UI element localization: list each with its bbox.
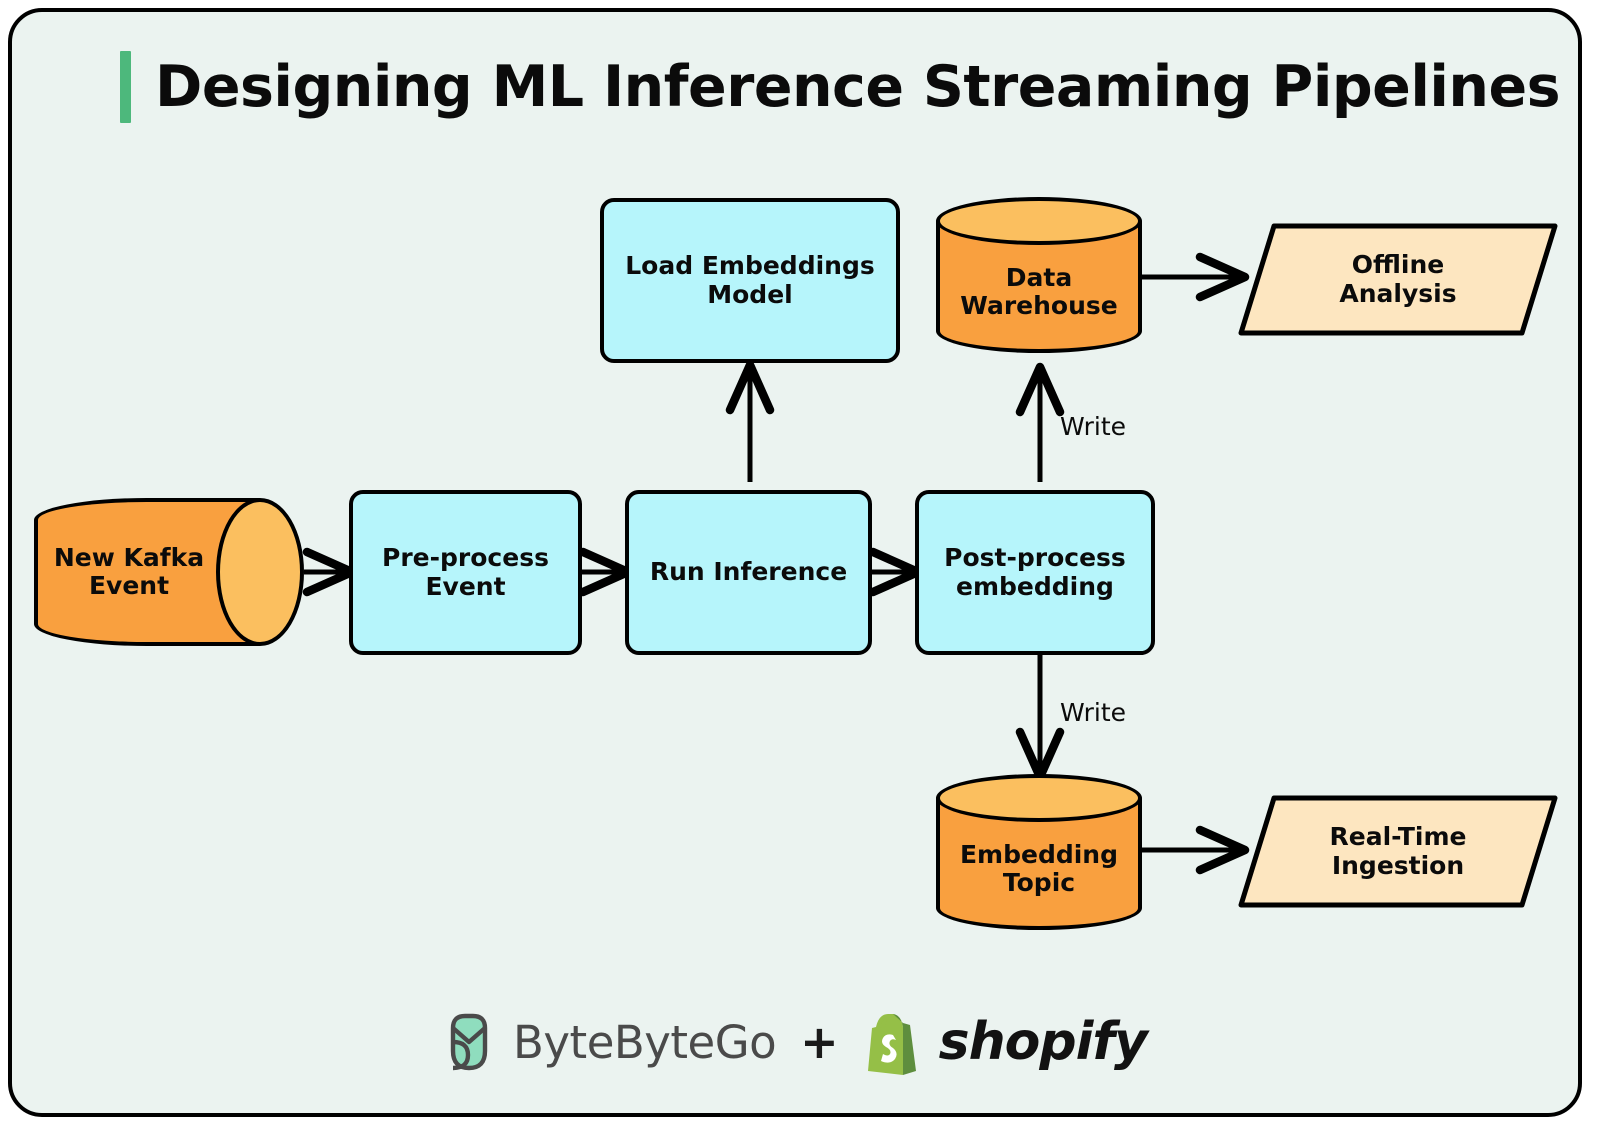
real-time-ingestion-label-wrap: Real-Time Ingestion	[1238, 795, 1558, 908]
kafka-cylinder-cap	[216, 498, 304, 646]
node-label-data-warehouse: Data Warehouse	[960, 264, 1117, 321]
node-offline-analysis[interactable]: Offline Analysis	[1238, 223, 1558, 336]
warehouse-label-wrap: Data Warehouse	[936, 231, 1142, 353]
node-label-embedding-topic: Embedding Topic	[960, 841, 1118, 898]
edge-label-write-topic: Write	[1060, 698, 1126, 727]
node-run-inference[interactable]: Run Inference	[625, 490, 872, 655]
node-label-run-inference: Run Inference	[650, 558, 847, 587]
node-new-kafka-event[interactable]: New Kafka Event	[34, 498, 304, 646]
bytebytego-wordmark: ByteByteGo	[513, 1016, 776, 1069]
diagram-card: Designing ML Inference Streaming Pipelin…	[8, 8, 1582, 1117]
node-data-warehouse[interactable]: Data Warehouse	[936, 197, 1142, 353]
offline-analysis-label-wrap: Offline Analysis	[1238, 223, 1558, 336]
title-accent-bar	[120, 51, 131, 123]
node-label-real-time-ingestion: Real-Time Ingestion	[1330, 823, 1467, 880]
node-label-new-kafka-event: New Kafka Event	[54, 544, 204, 601]
node-embedding-topic[interactable]: Embedding Topic	[936, 774, 1142, 930]
shopify-bag-icon	[863, 1009, 921, 1075]
node-real-time-ingestion[interactable]: Real-Time Ingestion	[1238, 795, 1558, 908]
node-post-process-embedding[interactable]: Post-process embedding	[915, 490, 1155, 655]
node-load-embeddings-model[interactable]: Load Embeddings Model	[600, 198, 900, 363]
bytebytego-logo-icon	[443, 1011, 495, 1073]
node-label-load-embeddings-model: Load Embeddings Model	[625, 252, 875, 309]
page-title-text: Designing ML Inference Streaming Pipelin…	[155, 59, 1560, 116]
topic-label-wrap: Embedding Topic	[936, 808, 1142, 930]
edge-label-write-warehouse: Write	[1060, 412, 1126, 441]
shopify-wordmark: shopify	[939, 1012, 1147, 1072]
node-label-offline-analysis: Offline Analysis	[1339, 251, 1456, 308]
kafka-label-wrap: New Kafka Event	[34, 498, 224, 646]
node-label-pre-process-event: Pre-process Event	[382, 544, 549, 601]
footer-branding: ByteByteGo + shopify	[12, 997, 1578, 1087]
page-title: Designing ML Inference Streaming Pipelin…	[120, 46, 1560, 128]
node-pre-process-event[interactable]: Pre-process Event	[349, 490, 582, 655]
plus-separator: +	[800, 1015, 839, 1069]
node-label-post-process-embedding: Post-process embedding	[944, 544, 1126, 601]
